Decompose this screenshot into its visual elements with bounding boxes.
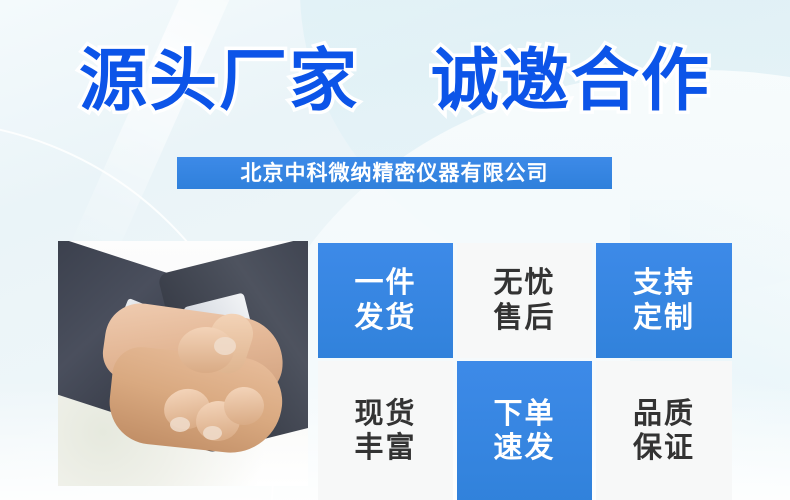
feature-tile-quality-guarantee[interactable]: 品质 保证	[596, 361, 732, 500]
feature-line-2: 速发	[493, 431, 555, 465]
feature-tile-fast-dispatch[interactable]: 下单 速发	[457, 361, 592, 500]
fingernail-2	[170, 417, 190, 432]
headline-part-1: 源头厂家	[79, 43, 359, 119]
feature-line-2: 发货	[354, 301, 416, 335]
fingernail-3	[203, 426, 222, 440]
background-light-streak-icon	[67, 0, 280, 271]
headline-part-2: 诚邀合作	[431, 43, 711, 119]
fingernail-1	[214, 337, 236, 355]
feature-line-2: 售后	[493, 301, 555, 335]
feature-line-1: 一件	[354, 266, 416, 300]
feature-line-1: 现货	[354, 397, 416, 431]
company-name-bar: 北京中科微纳精密仪器有限公司	[177, 157, 612, 189]
feature-tile-one-piece-shipping[interactable]: 一件 发货	[318, 243, 453, 358]
feature-tile-ample-stock[interactable]: 现货 丰富	[318, 361, 453, 500]
headline: 源头厂家 诚邀合作	[0, 42, 790, 120]
promo-banner: 源头厂家 诚邀合作 北京中科微纳精密仪器有限公司 一件 发货 无忧 售后	[0, 0, 790, 500]
feature-line-1: 支持	[633, 266, 695, 300]
feature-tile-worry-free-after-sales[interactable]: 无忧 售后	[457, 243, 592, 358]
company-name-text: 北京中科微纳精密仪器有限公司	[241, 163, 549, 184]
handshake-photo	[58, 241, 308, 486]
feature-line-1: 品质	[633, 397, 695, 431]
feature-line-2: 保证	[633, 431, 695, 465]
feature-line-2: 丰富	[354, 431, 416, 465]
feature-tile-customization-supported[interactable]: 支持 定制	[596, 243, 732, 358]
feature-line-1: 下单	[493, 397, 555, 431]
feature-grid: 一件 发货 无忧 售后 支持 定制 现货 丰富 下单 速发 品质 保证	[318, 243, 728, 500]
feature-line-1: 无忧	[493, 266, 555, 300]
feature-line-2: 定制	[633, 301, 695, 335]
